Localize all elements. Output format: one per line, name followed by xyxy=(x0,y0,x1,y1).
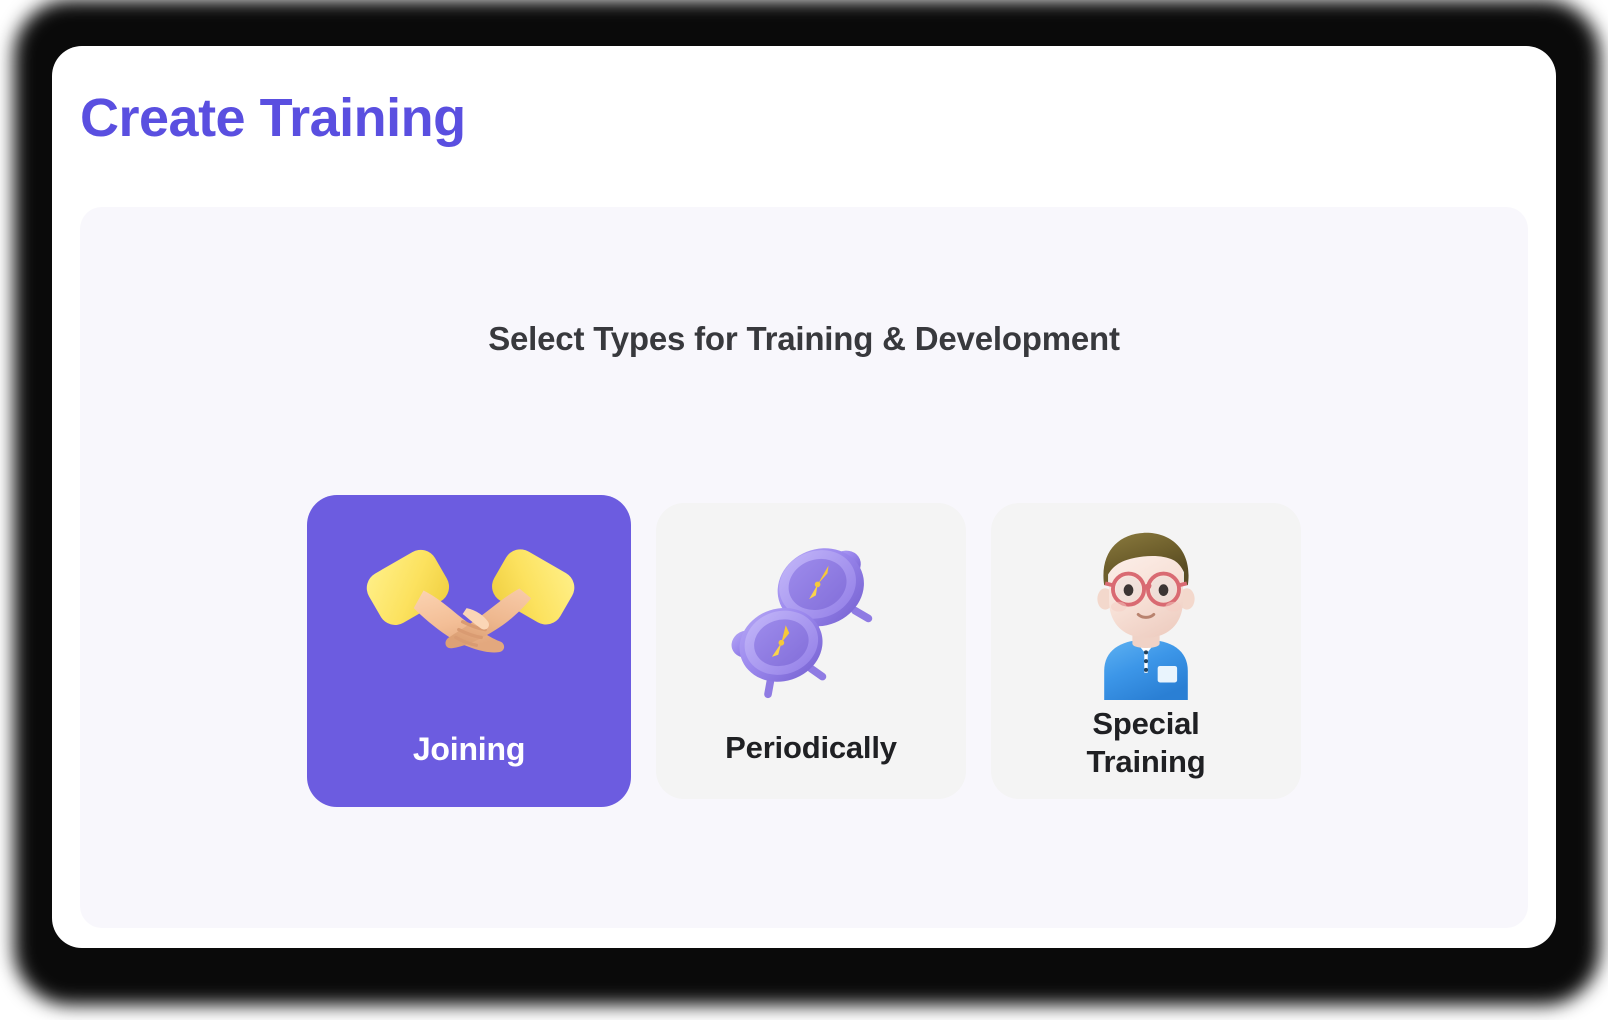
training-type-card-row: Joining xyxy=(80,495,1528,807)
training-type-label: Joining xyxy=(307,730,631,769)
page-title: Create Training xyxy=(80,91,466,145)
training-type-card-periodically[interactable]: Periodically xyxy=(656,503,966,799)
screenshot-root: Create Training Select Types for Trainin… xyxy=(0,0,1608,1020)
training-type-label: Periodically xyxy=(656,729,966,767)
training-type-label: Special Training xyxy=(991,705,1301,781)
training-type-label-line2: Training xyxy=(1087,744,1206,779)
alarm-clocks-icon xyxy=(706,525,916,700)
person-with-glasses-icon xyxy=(1041,525,1251,700)
training-type-selector-panel: Select Types for Training & Development xyxy=(80,207,1528,928)
panel-heading: Select Types for Training & Development xyxy=(80,320,1528,358)
training-type-label-line1: Special xyxy=(1092,706,1199,741)
training-type-card-special-training[interactable]: Special Training xyxy=(991,503,1301,799)
training-type-card-joining[interactable]: Joining xyxy=(307,495,631,807)
handshake-icon xyxy=(357,521,582,703)
app-window: Create Training Select Types for Trainin… xyxy=(52,46,1556,948)
